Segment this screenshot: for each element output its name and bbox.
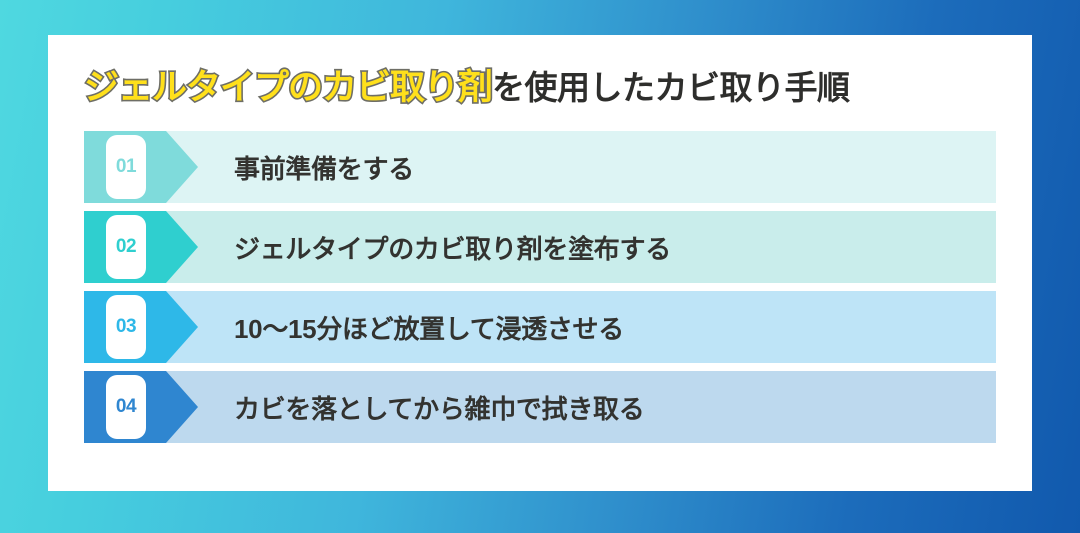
step-row: 02 ジェルタイプのカビ取り剤を塗布する — [84, 211, 996, 283]
step-arrow-tip-icon — [166, 131, 198, 203]
title-rest-text: を使用したカビ取り手順 — [492, 69, 850, 106]
step-label: 10〜15分ほど放置して浸透させる — [198, 291, 996, 363]
step-number-label: 02 — [116, 236, 136, 258]
step-number-label: 03 — [116, 316, 136, 338]
step-number-badge: 01 — [106, 135, 146, 199]
step-list: 01 事前準備をする 02 ジェルタイプのカビ取り剤を塗布する — [84, 131, 996, 443]
step-row: 04 カビを落としてから雑巾で拭き取る — [84, 371, 996, 443]
step-label: カビを落としてから雑巾で拭き取る — [198, 371, 996, 443]
step-arrow: 04 — [84, 371, 198, 443]
step-row: 01 事前準備をする — [84, 131, 996, 203]
poster-background: ジェルタイプのカビ取り剤を使用したカビ取り手順 01 事前準備をする — [0, 0, 1080, 533]
step-number-badge: 02 — [106, 215, 146, 279]
content-card: ジェルタイプのカビ取り剤を使用したカビ取り手順 01 事前準備をする — [48, 35, 1032, 491]
step-arrow-tip-icon — [166, 211, 198, 283]
step-arrow-tip-icon — [166, 291, 198, 363]
step-number-label: 04 — [116, 396, 136, 418]
step-label: ジェルタイプのカビ取り剤を塗布する — [198, 211, 996, 283]
step-arrow: 03 — [84, 291, 198, 363]
step-arrow: 01 — [84, 131, 198, 203]
step-number-label: 01 — [116, 156, 136, 178]
step-label: 事前準備をする — [198, 131, 996, 203]
step-row: 03 10〜15分ほど放置して浸透させる — [84, 291, 996, 363]
step-arrow: 02 — [84, 211, 198, 283]
page-title: ジェルタイプのカビ取り剤を使用したカビ取り手順 — [84, 62, 996, 114]
title-highlighted-text: ジェルタイプのカビ取り剤 — [84, 68, 492, 107]
step-number-badge: 04 — [106, 375, 146, 439]
step-arrow-tip-icon — [166, 371, 198, 443]
step-number-badge: 03 — [106, 295, 146, 359]
